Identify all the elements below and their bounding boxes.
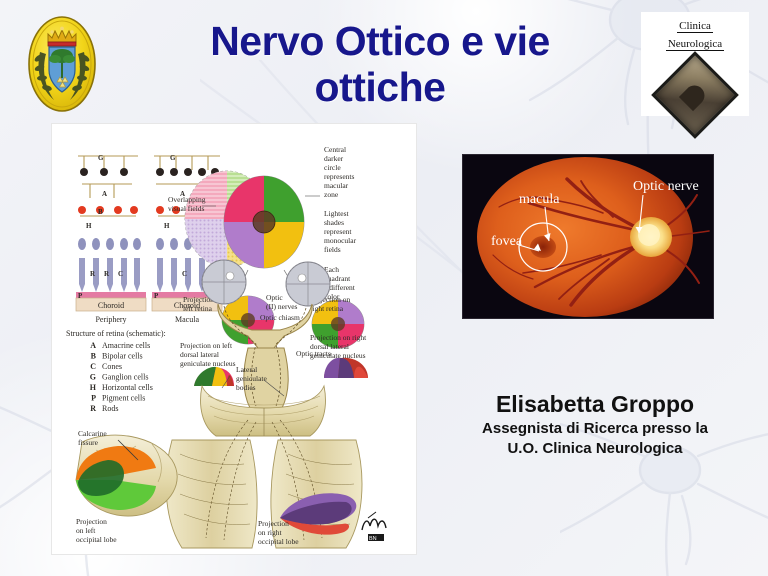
label-lightest-shades: Lightestshadesrepresent monocularfields — [324, 209, 357, 254]
fundus-label-optic-nerve: Optic nerve — [633, 179, 699, 194]
author-role-line-1: Assegnista di Ricerca presso la — [430, 420, 760, 438]
clinica-logo-line-1: Clinica — [677, 20, 713, 33]
label-periphery: Periphery — [95, 315, 126, 324]
svg-text:B: B — [98, 208, 103, 216]
clinica-logo-diamond — [651, 51, 739, 139]
label-projection-right-lgn: Projection on rightdorsal lateralgenicul… — [310, 333, 367, 360]
overlapping-visual-fields — [185, 171, 304, 268]
retina-legend-term: Amacrine cells — [102, 341, 150, 350]
author-role-line-2: U.O. Clinica Neurologica — [430, 440, 760, 458]
projection-right-lgn — [324, 358, 368, 378]
svg-text:P: P — [154, 292, 159, 300]
fundus-label-macula: macula — [519, 192, 560, 207]
label-projection-left-lgn: Projection on leftdorsal lateralgenicula… — [180, 341, 236, 368]
retina-legend-key: H — [90, 383, 97, 392]
label-central-darker-circle: Centraldarkercircle representsmacularzon… — [324, 145, 354, 199]
retina-legend-term: Rods — [102, 404, 118, 413]
clinica-logo-text: Clinica Neurologica — [641, 12, 749, 52]
retina-legend-term: Bipolar cells — [102, 352, 143, 361]
svg-text:H: H — [164, 222, 170, 230]
projection-left-lgn — [194, 367, 234, 386]
retina-legend-term: Ganglion cells — [102, 373, 148, 382]
presentation-slide: Nervo Ottico e vie ottiche Clinica Neuro… — [0, 0, 768, 576]
eyeball-left — [202, 260, 246, 304]
retina-legend-key: B — [91, 352, 97, 361]
page-title: Nervo Ottico e vie ottiche — [150, 18, 610, 111]
label-choroid-left: Choroid — [98, 301, 124, 310]
retina-legend-key: P — [91, 394, 96, 403]
retina-legend-key: A — [90, 341, 96, 350]
retina-legend-term: Pigment cells — [102, 394, 145, 403]
svg-text:G: G — [170, 154, 176, 162]
retina-legend-key: G — [90, 373, 96, 382]
clinica-logo-arch — [679, 81, 709, 111]
fundus-label-fovea: fovea — [491, 234, 523, 249]
title-line-1: Nervo Ottico e vie — [150, 18, 610, 64]
label-overlapping-visual-fields: Overlappingvisual fields — [168, 195, 206, 213]
svg-text:C: C — [118, 270, 123, 278]
netter-signature: BN — [362, 512, 386, 542]
retina-legend-term: Horizontal cells — [102, 383, 153, 392]
retina-legend-key: C — [90, 362, 96, 371]
svg-text:A: A — [102, 190, 107, 198]
author-name: Elisabetta Groppo — [430, 392, 760, 418]
author-block: Elisabetta Groppo Assegnista di Ricerca … — [430, 392, 760, 458]
retina-legend-term: Cones — [102, 362, 122, 371]
label-optic-chiasm: Optic chiasm — [260, 313, 300, 322]
svg-text:P: P — [78, 292, 83, 300]
svg-text:H: H — [86, 222, 92, 230]
clinica-neurologica-logo: Clinica Neurologica — [641, 12, 749, 116]
university-crest — [24, 12, 100, 116]
retinal-fundus-photograph: Optic nerve macula fovea — [463, 155, 713, 318]
label-structure-caption: Structure of retina (schematic): — [66, 329, 166, 338]
label-projection-left-occipital: Projectionon leftoccipital lobe — [76, 517, 117, 544]
retina-legend: AAmacrine cellsBBipolar cellsCConesGGang… — [90, 341, 153, 413]
label-macula: Macula — [175, 315, 199, 324]
svg-text:G: G — [98, 154, 104, 162]
clinica-logo-line-2: Neurologica — [666, 38, 724, 51]
svg-text:C: C — [182, 270, 187, 278]
visual-pathway-diagram: Choroid Choroid Periphery Macula GG AA H… — [52, 124, 416, 554]
svg-text:BN: BN — [369, 536, 377, 542]
title-line-2: ottiche — [150, 64, 610, 110]
left-occipital-lobe — [76, 435, 177, 516]
retina-legend-key: R — [90, 404, 96, 413]
eyeball-right — [286, 262, 330, 306]
